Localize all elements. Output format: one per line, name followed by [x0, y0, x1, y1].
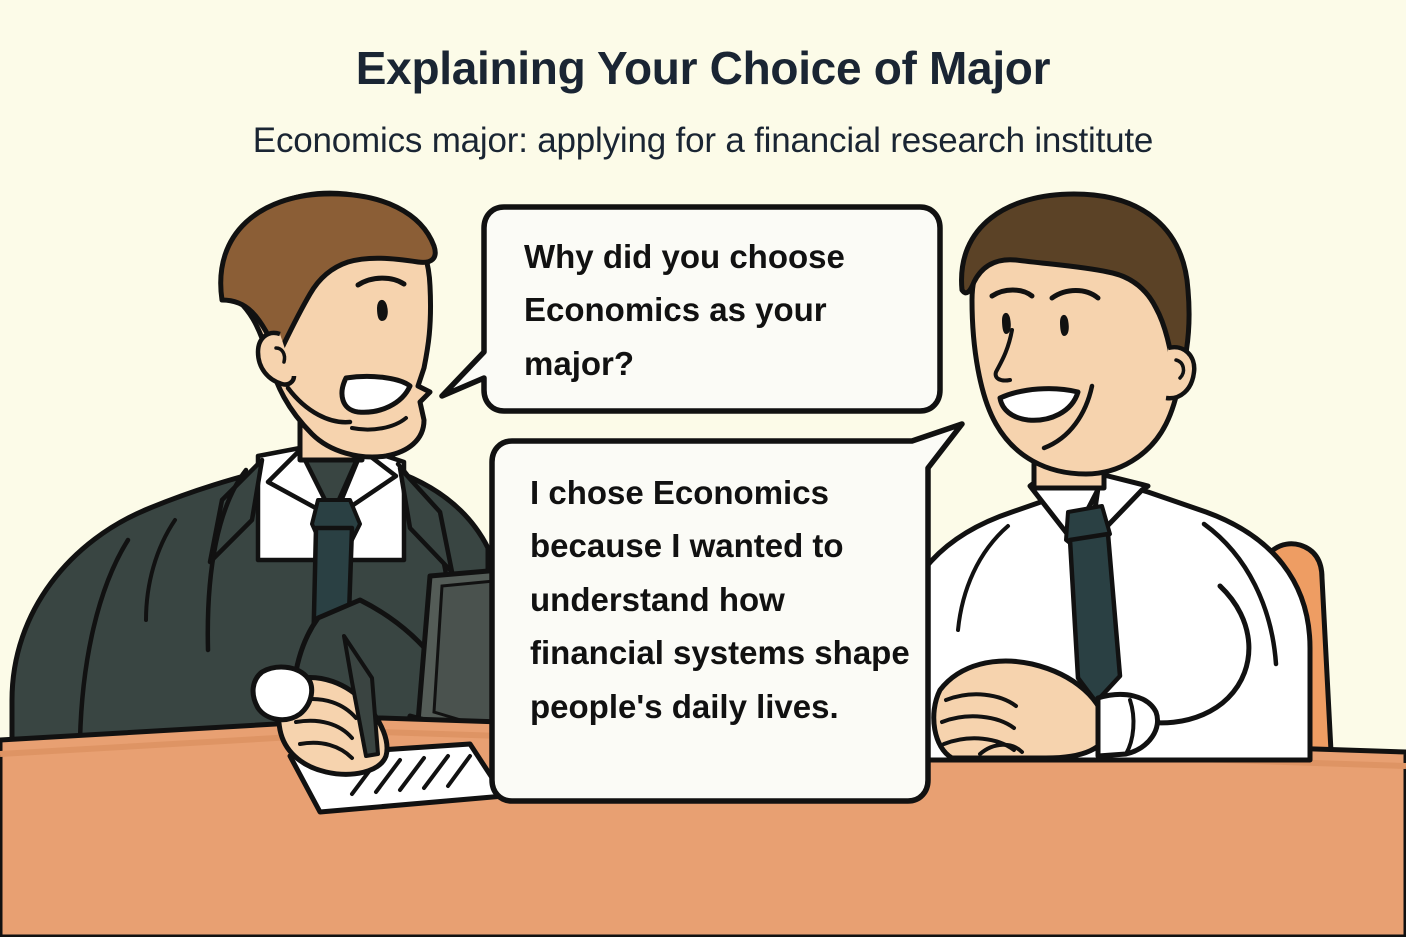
laptop-screen-inner [434, 581, 494, 730]
illustration-scene: Explaining Your Choice of Major Economic… [0, 0, 1406, 937]
interviewer-shirt-cuff [253, 667, 312, 720]
speech-bubble-answer [492, 424, 962, 801]
speech-bubble-question [442, 207, 940, 411]
interviewer-eye [378, 301, 387, 320]
scene-artwork [0, 0, 1406, 937]
